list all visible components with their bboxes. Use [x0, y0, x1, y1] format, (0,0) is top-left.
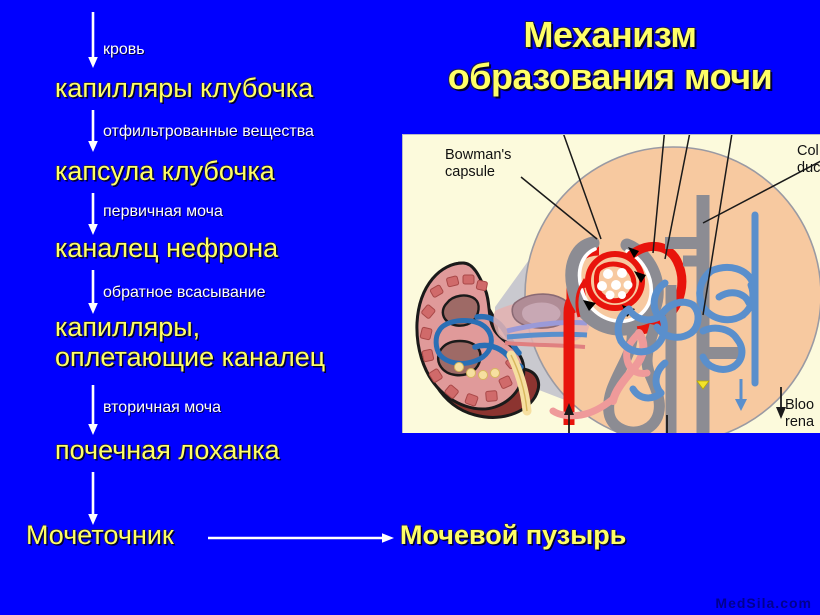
flow-stage-nephron-tubule: каналец нефрона — [55, 234, 278, 264]
slide-root: Механизм образования мочи кровь капилляр… — [0, 0, 820, 615]
flow-stage-peritubular-capillaries: капилляры, оплетающие каналец — [55, 313, 325, 372]
flow-label-reabsorption: обратное всасывание — [103, 285, 266, 301]
flow-arrow-reabsorption — [86, 270, 100, 314]
flow-stage-glomerular-capsule: капсула клубочка — [55, 157, 275, 187]
page-title: Механизм образования мочи — [400, 14, 820, 99]
flow-arrow-filtered-substances — [86, 110, 100, 152]
flow-label-filtered-substances: отфильтрованные вещества — [103, 124, 314, 140]
flow-arrow-ureter — [86, 472, 100, 525]
flow-arrow-primary-urine — [86, 193, 100, 235]
flow-label-primary-urine: первичная моча — [103, 204, 223, 220]
flow-stage-bladder: Мочевой пузырь — [400, 521, 626, 551]
nephron-illustration: Bowman's capsule Col duc Bloo rena — [402, 134, 820, 433]
flow-stage-glomerular-capillaries: капилляры клубочка — [55, 74, 313, 104]
flow-stage-renal-pelvis: почечная лоханка — [55, 436, 280, 466]
illustration-label-bowmans-capsule: Bowman's capsule — [445, 147, 511, 181]
watermark: MedSila.com — [715, 595, 812, 611]
flow-label-blood: кровь — [103, 42, 145, 58]
illustration-label-collecting-duct: Col duc — [797, 143, 820, 177]
flow-label-secondary-urine: вторичная моча — [103, 400, 221, 416]
illustration-label-blood-to-renal-vein: Bloo rena — [785, 397, 814, 431]
flow-arrow-secondary-urine — [86, 385, 100, 435]
flow-arrow-blood — [86, 12, 100, 68]
flow-arrow-bladder — [208, 531, 394, 545]
flow-stage-ureter: Мочеточник — [26, 521, 174, 551]
